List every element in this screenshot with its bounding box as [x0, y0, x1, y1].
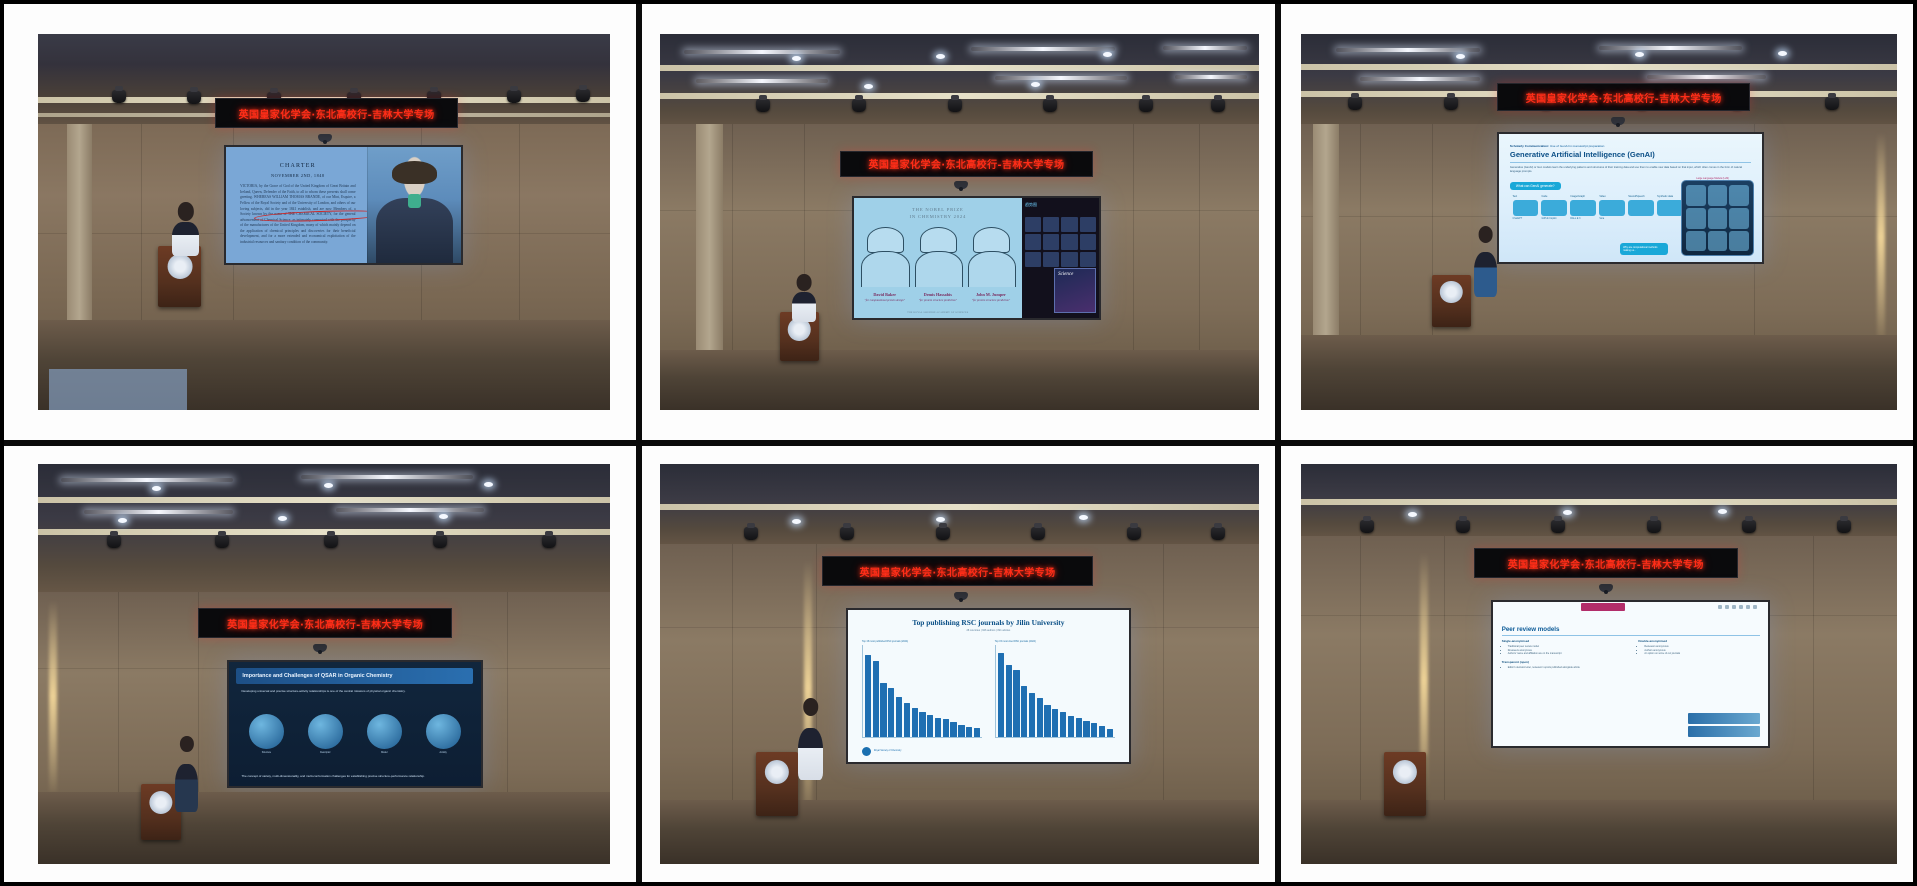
laureate-citation: "for protein structure prediction"	[914, 299, 962, 302]
genai-item-label: Image/Graph	[1570, 195, 1596, 198]
charter-portrait	[367, 147, 460, 264]
stage-spotlight-icon	[507, 90, 521, 103]
stage-spotlight-icon	[542, 535, 556, 548]
collage-panel-5: 英国皇家化学会·东北高校行-吉林大学专场 Top publishing RSC …	[642, 446, 1274, 882]
stage-spotlight-icon	[948, 99, 962, 112]
projection-screen-2: THE NOBEL PRIZE IN CHEMISTRY 2024 David …	[852, 196, 1101, 320]
stage-floor	[38, 320, 610, 410]
qsar-bullet-bottom: The concept of variety, multi-dimensiona…	[241, 774, 468, 778]
image-icon	[1570, 200, 1596, 216]
stage-spotlight-icon	[433, 535, 447, 548]
lecture-photo-1: 英国皇家化学会·东北高校行-吉林大学专场 CHARTER NOVEMBER 2N…	[38, 34, 610, 410]
podium-6	[1384, 752, 1426, 816]
stage-spotlight-icon	[112, 90, 126, 103]
genai-item-sub: DALL·E 3	[1570, 218, 1596, 220]
stage-spotlight-icon	[1742, 520, 1756, 533]
chart-right: Top 15 most cited RSC journals (2024)	[995, 640, 1115, 737]
ceiling	[660, 34, 1258, 136]
photo-collage: 英国皇家化学会·东北高校行-吉林大学专场 CHARTER NOVEMBER 2N…	[0, 0, 1917, 886]
led-banner: 英国皇家化学会·东北高校行-吉林大学专场	[840, 151, 1093, 177]
genai-eyebrow-rest: Use of GenAI in manuscript preparation	[1549, 144, 1604, 148]
slide-nobel-prize: THE NOBEL PRIZE IN CHEMISTRY 2024 David …	[854, 198, 1099, 318]
italic-icon	[1725, 605, 1729, 609]
underline-icon	[1732, 605, 1736, 609]
podium-5	[756, 752, 798, 816]
rsc-chart-subtitle: 28 countries | 926 authors | 821 article…	[856, 629, 1120, 632]
genai-item-label: Synthetic data	[1657, 195, 1683, 198]
genai-cta: Why are computational methods making us.…	[1620, 243, 1668, 255]
wall-cove-light	[1877, 132, 1885, 343]
led-banner: 英国皇家化学会·东北高校行-吉林大学专场	[215, 98, 457, 128]
stage-spotlight-icon	[1031, 527, 1045, 540]
data-icon	[1657, 200, 1683, 216]
peer-right-title: Double-anonymised	[1638, 639, 1759, 643]
stage-spotlight-icon	[852, 99, 866, 112]
stage-spotlight-icon	[1127, 527, 1141, 540]
genai-item-label: Text	[1513, 195, 1539, 198]
projection-screen-5: Top publishing RSC journals by Jilin Uni…	[846, 608, 1131, 764]
stage-spotlight-icon	[756, 99, 770, 112]
slide-charter: CHARTER NOVEMBER 2ND, 1848 VICTORIA, by …	[226, 147, 461, 264]
chart-right-title: Top 15 most cited RSC journals (2024)	[995, 640, 1115, 643]
slide-ribbon	[1581, 603, 1625, 610]
podium-emblem	[765, 760, 789, 784]
genai-item-sub: GitHub Copilot	[1541, 218, 1567, 220]
stage-spotlight-icon	[840, 527, 854, 540]
chart-left-plot	[862, 645, 982, 737]
collage-panel-6: 英国皇家化学会·东北高校行-吉林大学专场 Peer review models …	[1281, 446, 1913, 882]
slide-peer-review: Peer review models Single-anonymised Tra…	[1493, 602, 1767, 746]
genai-bullet: Generative (GenAI) or Gen models learn t…	[1510, 166, 1751, 174]
collage-panel-2: 英国皇家化学会·东北高校行-吉林大学专场 THE NOBEL PRIZE IN …	[642, 4, 1274, 440]
laureate-name: John M. Jumper	[967, 292, 1015, 297]
qsar-node-caption: Model	[359, 752, 409, 754]
speaker-presenter-5	[798, 728, 823, 780]
text-icon	[1513, 200, 1539, 216]
stage-floor	[660, 800, 1258, 864]
stage-spotlight-icon	[215, 535, 229, 548]
stage-spotlight-icon	[1825, 97, 1839, 110]
genai-item-sub: ChatGPT	[1513, 218, 1539, 220]
projection-screen-3: Scholarly Communication: Use of GenAI in…	[1497, 132, 1763, 264]
stage-floor	[1301, 335, 1897, 410]
stage-spotlight-icon	[187, 91, 201, 104]
chart-right-plot	[995, 645, 1115, 737]
genai-item-label: Video	[1599, 195, 1625, 198]
peer-left-item: Authors' name and affiliation are on the…	[1508, 652, 1623, 655]
stage-spotlight-icon	[1647, 520, 1661, 533]
stage-spotlight-icon	[936, 527, 950, 540]
bold-icon	[1718, 605, 1722, 609]
lecture-photo-6: 英国皇家化学会·东北高校行-吉林大学专场 Peer review models …	[1301, 464, 1897, 864]
speaker-presenter-3	[1474, 252, 1498, 297]
stage-spotlight-icon	[1211, 99, 1225, 112]
podium-emblem	[1440, 281, 1462, 303]
nobel-footer: THE ROYAL SWEDISH ACADEMY OF SCIENCES	[854, 311, 1022, 314]
collage-panel-3: 英国皇家化学会·东北高校行-吉林大学专场 Scholarly Communica…	[1281, 4, 1913, 440]
genai-heading: Generative Artificial Intelligence (GenA…	[1510, 150, 1751, 159]
ceiling-camera-icon	[1611, 117, 1625, 125]
slide-thumbnails	[1688, 713, 1759, 737]
nobel-title-line1: THE NOBEL PRIZE	[859, 207, 1017, 214]
phone-apps-panel	[1681, 180, 1754, 256]
ceiling	[660, 464, 1258, 552]
slide-qsar: Importance and Challenges of QSAR in Org…	[229, 662, 481, 786]
led-banner: 英国皇家化学会·东北高校行-吉林大学专场	[198, 608, 452, 638]
stage-floor	[38, 792, 610, 864]
rsc-logo-icon	[862, 747, 871, 756]
stage-floor	[660, 350, 1258, 410]
sound-icon	[1628, 200, 1654, 216]
chart-left: Top 15 most published RSC journals (2024…	[862, 640, 982, 737]
ceiling-camera-icon	[954, 592, 968, 600]
led-banner: 英国皇家化学会·东北高校行-吉林大学专场	[1474, 548, 1738, 578]
rsc-logo-text: Royal Society of Chemistry	[874, 750, 902, 753]
genai-item-sub: Sora	[1599, 218, 1625, 220]
stage-spotlight-icon	[576, 89, 590, 102]
peer-left-title-2: Transparent (open)	[1502, 660, 1623, 664]
projection-screen-6: Peer review models Single-anonymised Tra…	[1491, 600, 1769, 748]
laureate-name: Demis Hassabis	[914, 292, 962, 297]
lecture-photo-5: 英国皇家化学会·东北高校行-吉林大学专场 Top publishing RSC …	[660, 464, 1258, 864]
stage-spotlight-icon	[107, 535, 121, 548]
rsc-chart-title: Top publishing RSC journals by Jilin Uni…	[856, 618, 1120, 627]
ceiling-camera-icon	[318, 134, 332, 142]
video-icon	[1599, 200, 1625, 216]
qsar-node-caption: Structure	[241, 752, 291, 754]
stage-spotlight-icon	[1837, 520, 1851, 533]
peer-right-item: An option on some of our journals	[1644, 652, 1759, 655]
chart-left-title: Top 15 most published RSC journals (2024…	[862, 640, 982, 643]
laureate-name: David Baker	[861, 292, 909, 297]
lecture-photo-4: 英国皇家化学会·东北高校行-吉林大学专场 Importance and Chal…	[38, 464, 610, 864]
genai-eyebrow-bold: Scholarly Communication:	[1510, 144, 1549, 148]
ceiling-camera-icon	[954, 181, 968, 189]
projection-screen-4: Importance and Challenges of QSAR in Org…	[227, 660, 483, 788]
podium-emblem	[149, 791, 172, 814]
stage-spotlight-icon	[1444, 97, 1458, 110]
qsar-heading: Importance and Challenges of QSAR in Org…	[242, 673, 392, 679]
genai-item-label: Sound/Speech	[1628, 195, 1654, 198]
speaker-presenter-4	[175, 764, 198, 812]
code-icon	[1541, 200, 1567, 216]
list-icon	[1753, 605, 1757, 609]
speaker-presenter-2	[792, 292, 816, 322]
slide-genai: Scholarly Communication: Use of GenAI in…	[1499, 134, 1761, 262]
laureate-citation: "for computational protein design"	[861, 299, 909, 302]
laureate-citation: "for protein structure prediction"	[967, 299, 1015, 302]
wall-cove-light	[49, 600, 57, 792]
stage-spotlight-icon	[1551, 520, 1565, 533]
stage-spotlight-icon	[324, 535, 338, 548]
stage-spotlight-icon	[1139, 99, 1153, 112]
genai-item-label: Code	[1541, 195, 1567, 198]
journal-cover-word: Science	[1058, 272, 1073, 277]
stage-spotlight-icon	[1360, 520, 1374, 533]
stage-spotlight-icon	[1211, 527, 1225, 540]
stage-spotlight-icon	[744, 527, 758, 540]
led-banner: 英国皇家化学会·东北高校行-吉林大学专场	[822, 556, 1093, 586]
lecture-photo-3: 英国皇家化学会·东北高校行-吉林大学专场 Scholarly Communica…	[1301, 34, 1897, 410]
peer-left-item-2: Editor's decision letter, reviewers' rep…	[1508, 666, 1623, 669]
collage-panel-4: 英国皇家化学会·东北高校行-吉林大学专场 Importance and Chal…	[4, 446, 636, 882]
slide-rsc-journals: Top publishing RSC journals by Jilin Uni…	[848, 610, 1129, 762]
stage-spotlight-icon	[1348, 97, 1362, 110]
podium-emblem	[167, 254, 192, 279]
qsar-node-caption: Activity	[418, 752, 468, 754]
collage-panel-1: 英国皇家化学会·东北高校行-吉林大学专场 CHARTER NOVEMBER 2N…	[4, 4, 636, 440]
projection-screen-1: CHARTER NOVEMBER 2ND, 1848 VICTORIA, by …	[224, 145, 463, 266]
side-panel-title: 趋势图	[1025, 202, 1037, 208]
led-banner: 英国皇家化学会·东北高校行-吉林大学专场	[1497, 83, 1749, 111]
align-left-icon	[1739, 605, 1743, 609]
lecture-photo-2: 英国皇家化学会·东北高校行-吉林大学专场 THE NOBEL PRIZE IN …	[660, 34, 1258, 410]
charter-date: NOVEMBER 2ND, 1848	[240, 173, 355, 178]
podium-3	[1432, 275, 1471, 328]
genai-pill: What can GenAI generate?	[1510, 182, 1561, 190]
ceiling	[1301, 464, 1897, 544]
peer-left-title: Single-anonymised	[1502, 639, 1623, 643]
stage-spotlight-icon	[1043, 99, 1057, 112]
charter-title: CHARTER	[240, 163, 355, 169]
ceiling	[38, 464, 610, 600]
qsar-node-caption: Descriptor	[300, 752, 350, 754]
ceiling-camera-icon	[313, 644, 327, 652]
journal-cover: Science	[1054, 268, 1096, 313]
nobel-title-line2: IN CHEMISTRY 2024	[859, 214, 1017, 221]
toolbar-icons	[1718, 605, 1757, 609]
ceiling-camera-icon	[1599, 584, 1613, 592]
stage-spotlight-icon	[1456, 520, 1470, 533]
align-center-icon	[1746, 605, 1750, 609]
podium-emblem	[1393, 760, 1417, 784]
qsar-bullet-top: Developing universal and precise structu…	[241, 689, 468, 693]
peer-heading: Peer review models	[1502, 626, 1760, 633]
speaker-presenter-1	[172, 222, 198, 256]
